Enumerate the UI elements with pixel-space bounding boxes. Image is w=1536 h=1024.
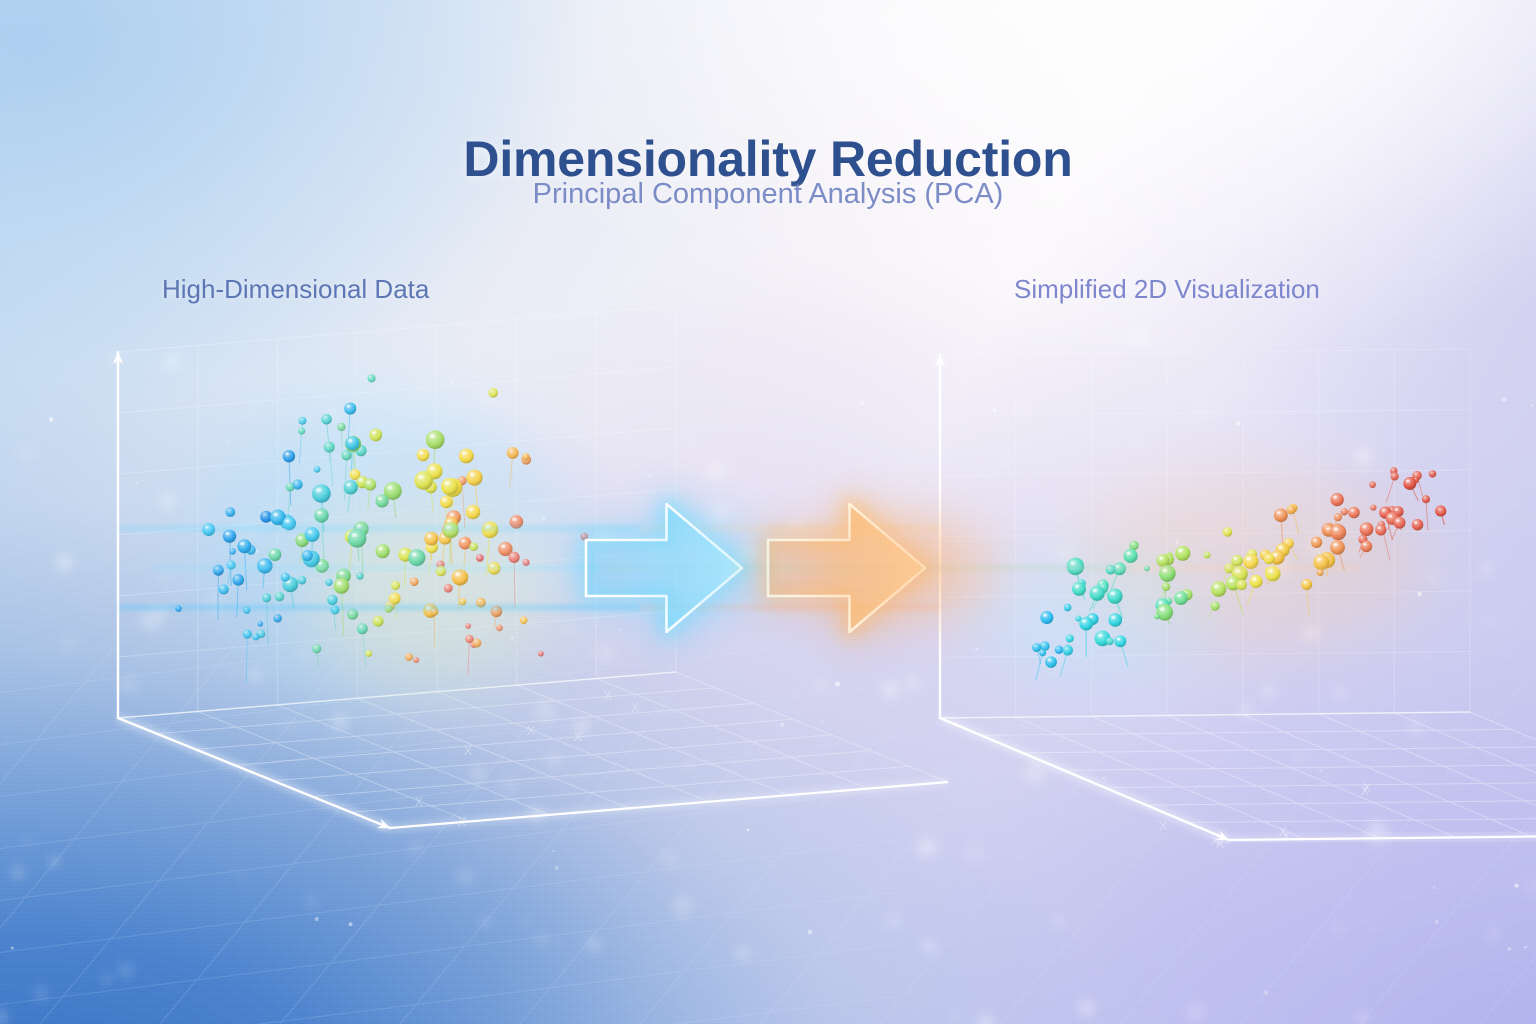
left-panel-label: High-Dimensional Data	[162, 274, 429, 305]
illustration-canvas: xxxxxxxxxxxxxx Dimensionality Reduction …	[0, 0, 1536, 1024]
right-panel-label: Simplified 2D Visualization	[1014, 274, 1320, 305]
page-subtitle: Principal Component Analysis (PCA)	[0, 178, 1536, 211]
